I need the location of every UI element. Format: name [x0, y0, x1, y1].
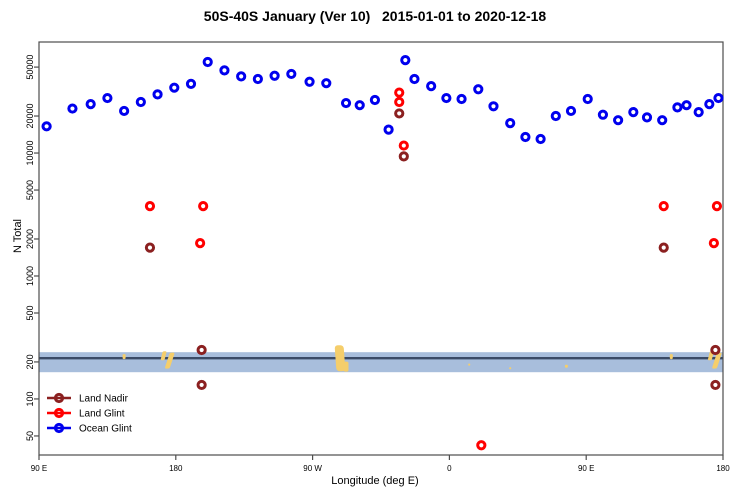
data-point[interactable] [507, 120, 514, 127]
data-point[interactable] [458, 95, 465, 102]
data-point[interactable] [221, 67, 228, 74]
plot-svg: 5010020050010002000500010000200005000090… [0, 0, 750, 500]
data-point[interactable] [428, 83, 435, 90]
y-axis-label: N Total [12, 196, 24, 276]
map-land-shape [123, 354, 126, 359]
y-tick-label: 20000 [25, 104, 35, 129]
y-tick-label: 500 [25, 305, 35, 320]
data-point[interactable] [615, 117, 622, 124]
data-point[interactable] [87, 101, 94, 108]
x-tick-label: 90 W [303, 464, 322, 473]
data-point[interactable] [396, 89, 403, 96]
data-point[interactable] [171, 84, 178, 91]
data-point[interactable] [254, 75, 261, 82]
data-point[interactable] [683, 102, 690, 109]
data-point[interactable] [674, 104, 681, 111]
map-land-africa-speck [565, 365, 568, 368]
data-point[interactable] [306, 78, 313, 85]
x-tick-label: 180 [716, 464, 730, 473]
data-point[interactable] [712, 381, 719, 388]
data-point[interactable] [197, 240, 204, 247]
map-land-tasmania-speck-wrap [670, 354, 673, 359]
data-point[interactable] [552, 112, 559, 119]
x-tick-label: 180 [169, 464, 183, 473]
data-point[interactable] [187, 80, 194, 87]
data-point[interactable] [478, 442, 485, 449]
y-tick-label: 100 [25, 391, 35, 406]
legend-item-land-nadir[interactable]: Land Nadir [47, 394, 129, 405]
plot-frame [39, 42, 723, 455]
map-land-shape [344, 362, 349, 372]
x-tick-label: 0 [447, 464, 452, 473]
chart-figure: 50S-40S January (Ver 10) 2015-01-01 to 2… [0, 0, 750, 500]
y-tick-label: 200 [25, 354, 35, 369]
y-tick-label: 50000 [25, 55, 35, 80]
data-point[interactable] [146, 244, 153, 251]
data-point[interactable] [69, 105, 76, 112]
legend-label: Land Glint [79, 409, 125, 420]
data-point[interactable] [660, 244, 667, 251]
data-point[interactable] [599, 111, 606, 118]
data-point[interactable] [198, 346, 205, 353]
data-point[interactable] [137, 98, 144, 105]
y-tick-label: 50 [25, 431, 35, 441]
data-point[interactable] [659, 117, 666, 124]
x-tick-label: 90 E [31, 464, 47, 473]
data-point[interactable] [43, 123, 50, 130]
data-point[interactable] [238, 73, 245, 80]
map-ocean-band [39, 352, 723, 372]
data-point[interactable] [715, 94, 722, 101]
data-point[interactable] [323, 80, 330, 87]
map-land-tasmania-speck [123, 354, 126, 359]
data-point[interactable] [695, 109, 702, 116]
data-point[interactable] [271, 72, 278, 79]
map-land-shape [468, 364, 470, 366]
legend-label: Ocean Glint [79, 424, 132, 435]
y-tick-label: 2000 [25, 229, 35, 249]
data-point[interactable] [522, 133, 529, 140]
data-point[interactable] [396, 98, 403, 105]
series-land-nadir [146, 110, 719, 389]
data-point[interactable] [710, 240, 717, 247]
data-point[interactable] [200, 203, 207, 210]
map-land-atlantic-speck-2 [509, 367, 511, 369]
data-point[interactable] [154, 91, 161, 98]
map-land-atlantic-speck-1 [468, 364, 470, 366]
data-point[interactable] [288, 70, 295, 77]
y-tick-label: 1000 [25, 266, 35, 286]
legend: Land NadirLand GlintOcean Glint [47, 394, 132, 435]
map-land-shape [509, 367, 511, 369]
data-point[interactable] [385, 126, 392, 133]
map-land-patagonia-tip [344, 362, 349, 372]
data-point[interactable] [490, 103, 497, 110]
data-point[interactable] [121, 107, 128, 114]
data-point[interactable] [630, 109, 637, 116]
data-point[interactable] [443, 94, 450, 101]
data-point[interactable] [537, 135, 544, 142]
map-land-shape [565, 365, 568, 368]
data-point[interactable] [567, 107, 574, 114]
data-point[interactable] [342, 99, 349, 106]
data-point[interactable] [411, 75, 418, 82]
data-point[interactable] [712, 346, 719, 353]
y-tick-label: 5000 [25, 180, 35, 200]
data-point[interactable] [396, 110, 403, 117]
data-point[interactable] [400, 153, 407, 160]
legend-item-ocean-glint[interactable]: Ocean Glint [47, 424, 132, 435]
data-point[interactable] [706, 101, 713, 108]
series-ocean-glint [43, 57, 722, 143]
x-tick-label: 90 E [578, 464, 594, 473]
legend-item-land-glint[interactable]: Land Glint [47, 409, 125, 420]
series-land-glint [146, 89, 720, 449]
data-point[interactable] [660, 203, 667, 210]
data-point[interactable] [584, 95, 591, 102]
data-point[interactable] [198, 381, 205, 388]
data-point[interactable] [371, 96, 378, 103]
x-axis-label: Longitude (deg E) [0, 475, 750, 487]
data-point[interactable] [356, 102, 363, 109]
data-point[interactable] [400, 142, 407, 149]
data-point[interactable] [402, 57, 409, 64]
legend-label: Land Nadir [79, 394, 129, 405]
data-point[interactable] [146, 203, 153, 210]
map-coast-line [39, 357, 723, 359]
data-point[interactable] [713, 203, 720, 210]
data-point[interactable] [475, 86, 482, 93]
data-point[interactable] [643, 114, 650, 121]
y-tick-label: 10000 [25, 141, 35, 166]
data-point[interactable] [104, 94, 111, 101]
map-land-shape [670, 354, 673, 359]
data-point[interactable] [204, 58, 211, 65]
